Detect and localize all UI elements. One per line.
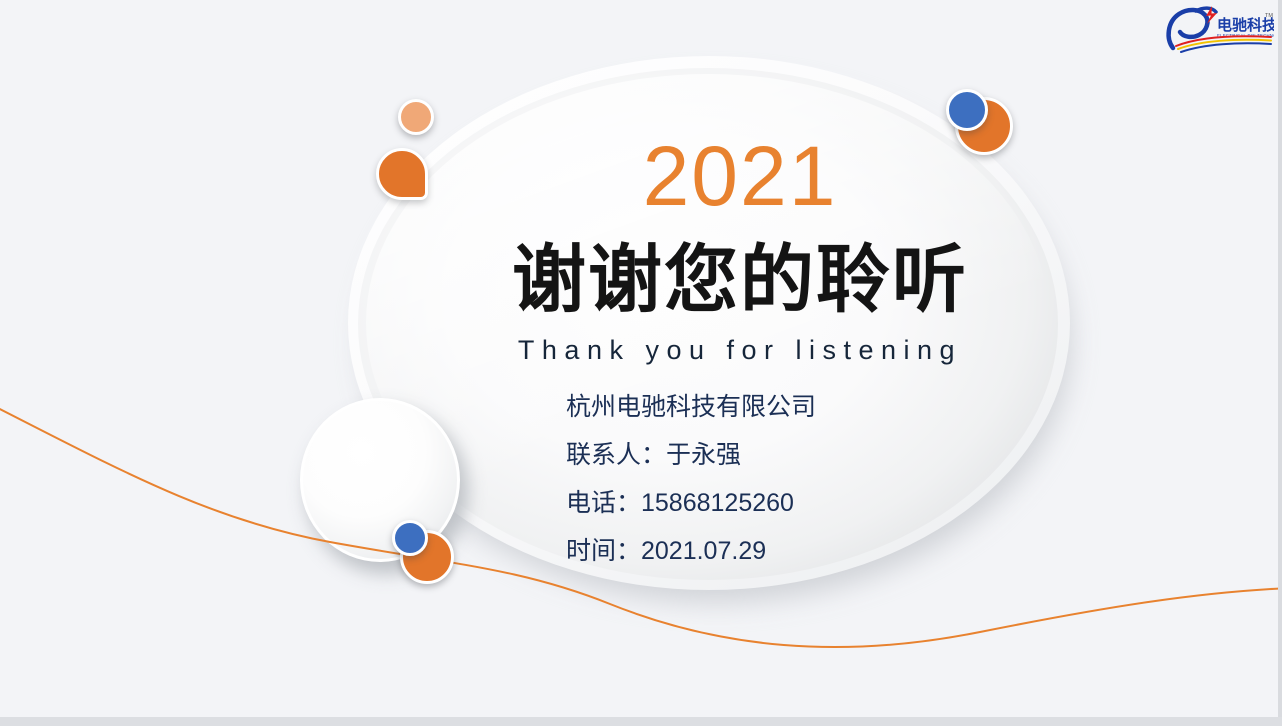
dianchi-technology-logo: 电驰科技 TM ELECTRICAL DIN TECHNOLOGY: [1164, 4, 1274, 54]
dot-blue-top-right: [946, 89, 988, 131]
teardrop-orange-top-left: [376, 148, 428, 200]
dot-peach-top-left: [398, 99, 434, 135]
year-heading: 2021: [480, 134, 1000, 218]
contact-person: 联系人：于永强: [566, 436, 816, 474]
logo-trademark: TM: [1265, 13, 1273, 19]
page-title-cn: 谢谢您的聆听: [480, 243, 1000, 317]
contact-phone: 电话：15868125260: [566, 484, 816, 522]
page-title-en: Thank you for listening: [480, 334, 1000, 366]
contact-date: 时间：2021.07.29: [566, 532, 816, 570]
presentation-slide: 2021 谢谢您的聆听 Thank you for listening 杭州电驰…: [0, 0, 1282, 726]
dot-blue-bottom-left: [392, 520, 428, 556]
slide-edge-bottom: [0, 717, 1282, 726]
slide-edge-right: [1278, 0, 1282, 726]
contact-company: 杭州电驰科技有限公司: [566, 388, 816, 426]
contact-info-block: 杭州电驰科技有限公司 联系人：于永强 电话：15868125260 时间：202…: [566, 388, 816, 570]
